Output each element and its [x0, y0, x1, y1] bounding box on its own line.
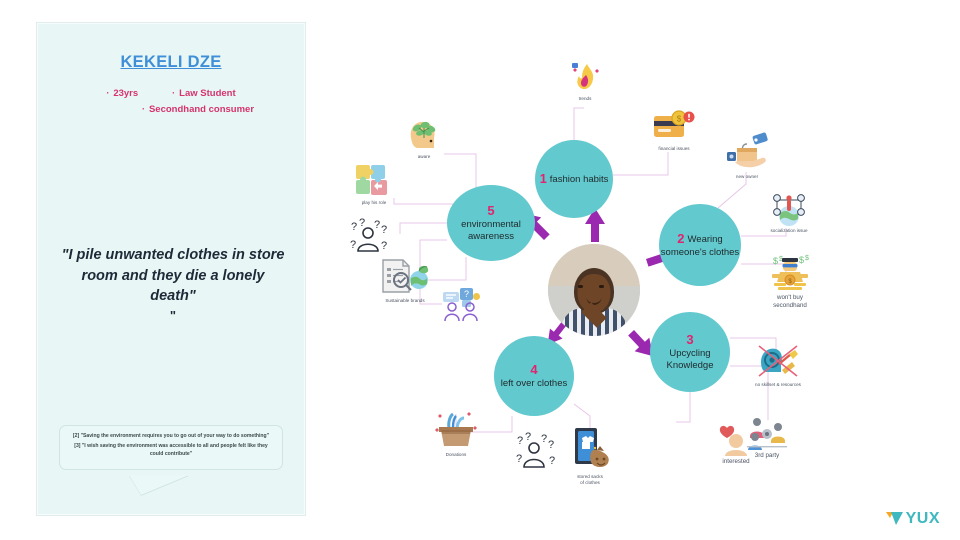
node-interested: interested: [714, 422, 758, 466]
flame-icon: [570, 60, 600, 94]
node-stored-sacks-caption: stored sacks of clothes: [564, 474, 616, 486]
node-no-skillset-resources-caption: no skillset & resources: [750, 382, 806, 388]
sustainable-brands-icon: [379, 258, 431, 296]
no-skills-icon: [755, 342, 801, 380]
node-wont-buy-secondhand: $ $ $ $ $: [760, 252, 820, 310]
node-socialization-issue: socialization issue: [766, 190, 812, 234]
svg-text:$: $: [677, 115, 682, 124]
bubble-1-fashion-habits[interactable]: 1fashion habits: [535, 140, 613, 218]
callout-line-1: [2] "Saving the environment requires you…: [69, 433, 273, 441]
svg-text:$: $: [773, 256, 778, 266]
svg-text:$: $: [805, 255, 809, 262]
node-aware: aware: [402, 116, 446, 160]
svg-text:$: $: [799, 255, 804, 265]
hand-receiving-box-icon: [723, 132, 771, 172]
trait-age: ·23yrs: [106, 88, 138, 99]
persona-traits: ·23yrs ·Law Student ·Secondhand consumer: [37, 83, 305, 115]
quote-text: "I pile unwanted clothes in store room a…: [62, 247, 285, 304]
svg-text:?: ?: [525, 432, 531, 443]
bubble-5-label: environmental awareness: [447, 219, 535, 242]
svg-text:?: ?: [381, 224, 387, 236]
node-play-his-role-caption: play his role: [348, 200, 400, 206]
callout-line-2: [3] "I wish saving the environment was a…: [69, 443, 273, 459]
node-wont-buy-secondhand-caption: won't buy secondhand: [760, 294, 820, 310]
node-trends-caption: trends: [568, 96, 602, 102]
svg-text:?: ?: [548, 439, 554, 451]
node-aware-caption: aware: [402, 154, 446, 160]
wardrobe-sack-icon: [567, 426, 613, 472]
persona-name: KEKELI DZE: [37, 53, 305, 72]
svg-text:?: ?: [359, 218, 365, 229]
confused-person-icon: ?? ?? ??: [348, 218, 392, 252]
svg-text:?: ?: [549, 455, 555, 467]
bullet-icon: ·: [142, 104, 145, 114]
node-financial-issues: $ financial issues: [650, 110, 698, 152]
node-trends: trends: [568, 60, 602, 102]
bubble-2-label: Wearing someone's clothes: [661, 234, 739, 258]
svg-text:?: ?: [350, 239, 356, 251]
bubble-2-text: 2Wearing someone's clothes: [659, 231, 741, 258]
person-heart-icon: [717, 422, 755, 456]
bubble-3-upcycling-knowledge[interactable]: 3 Upcycling Knowledge: [650, 312, 730, 392]
bubble-4-number: 4: [530, 362, 537, 378]
callout-tail: [129, 475, 189, 495]
donation-box-icon: [433, 410, 479, 450]
aware-head-icon: [405, 116, 443, 152]
node-donations-caption: Donations: [430, 452, 482, 458]
quote-tail: ": [59, 309, 287, 322]
mind-map: 1fashion habits 2Wearing someone's cloth…: [316, 12, 960, 512]
node-question-person-bottom: ?? ?? ??: [514, 432, 558, 470]
svg-text:?: ?: [517, 435, 523, 447]
bubble-1-number: 1: [540, 171, 547, 186]
bubble-3-label: Upcycling Knowledge: [650, 348, 730, 371]
yux-logo: YUX: [886, 510, 940, 528]
bubble-2-wearing-someones-clothes[interactable]: 2Wearing someone's clothes: [659, 204, 741, 286]
persona-quote: "I pile unwanted clothes in store room a…: [59, 245, 287, 322]
social-network-globe-icon: [768, 190, 810, 226]
svg-text:?: ?: [381, 240, 387, 252]
puzzle-icon: [352, 162, 396, 198]
node-sustainable-brands: Sustainable brands: [374, 258, 436, 304]
persona-panel: KEKELI DZE ·23yrs ·Law Student ·Secondha…: [36, 22, 306, 516]
persona-avatar: [548, 244, 640, 336]
trait-occupation: ·Law Student: [172, 88, 235, 99]
svg-text:?: ?: [374, 219, 380, 231]
bubble-4-left-over-clothes[interactable]: 4 left over clothes: [494, 336, 574, 416]
node-stored-sacks: stored sacks of clothes: [564, 426, 616, 486]
confused-person-icon: ?? ?? ??: [515, 432, 557, 468]
node-new-owner: new owner: [720, 132, 774, 180]
bubble-4-label: left over clothes: [501, 378, 568, 390]
bubble-2-number: 2: [677, 231, 684, 246]
node-donations: Donations: [430, 410, 482, 458]
avatar-eye-right: [599, 285, 604, 288]
node-conversation: ?: [438, 284, 486, 324]
bubble-1-text: 1fashion habits: [540, 171, 609, 187]
bubble-5-number: 5: [487, 203, 494, 219]
bullet-icon: ·: [106, 88, 109, 98]
node-financial-issues-caption: financial issues: [650, 146, 698, 152]
node-play-his-role: play his role: [348, 162, 400, 206]
node-socialization-issue-caption: socialization issue: [766, 228, 812, 234]
bubble-3-number: 3: [686, 332, 693, 348]
node-new-owner-caption: new owner: [720, 174, 774, 180]
bubble-5-environmental-awareness[interactable]: 5 environmental awareness: [447, 185, 535, 261]
bullet-icon: ·: [172, 88, 175, 98]
bubble-1-label: fashion habits: [550, 174, 609, 185]
yux-mark-icon: [886, 512, 903, 526]
svg-text:?: ?: [464, 289, 469, 299]
credit-card-icon: $: [653, 110, 695, 144]
node-interested-caption: interested: [714, 458, 758, 466]
svg-text:?: ?: [541, 433, 547, 445]
node-sustainable-brands-caption: Sustainable brands: [374, 298, 436, 304]
money-person-icon: $ $ $ $ $: [768, 252, 812, 292]
node-no-skillset-resources: no skillset & resources: [750, 342, 806, 388]
yux-wordmark: YUX: [906, 510, 940, 528]
slide: KEKELI DZE ·23yrs ·Law Student ·Secondha…: [0, 0, 960, 540]
svg-text:?: ?: [516, 453, 522, 465]
conversation-icon: ?: [440, 284, 484, 322]
svg-text:?: ?: [351, 221, 357, 233]
trait-consumer-type: ·Secondhand consumer: [142, 104, 254, 115]
persona-callout: [2] "Saving the environment requires you…: [59, 425, 283, 470]
node-question-person-left: ?? ?? ??: [346, 218, 394, 254]
